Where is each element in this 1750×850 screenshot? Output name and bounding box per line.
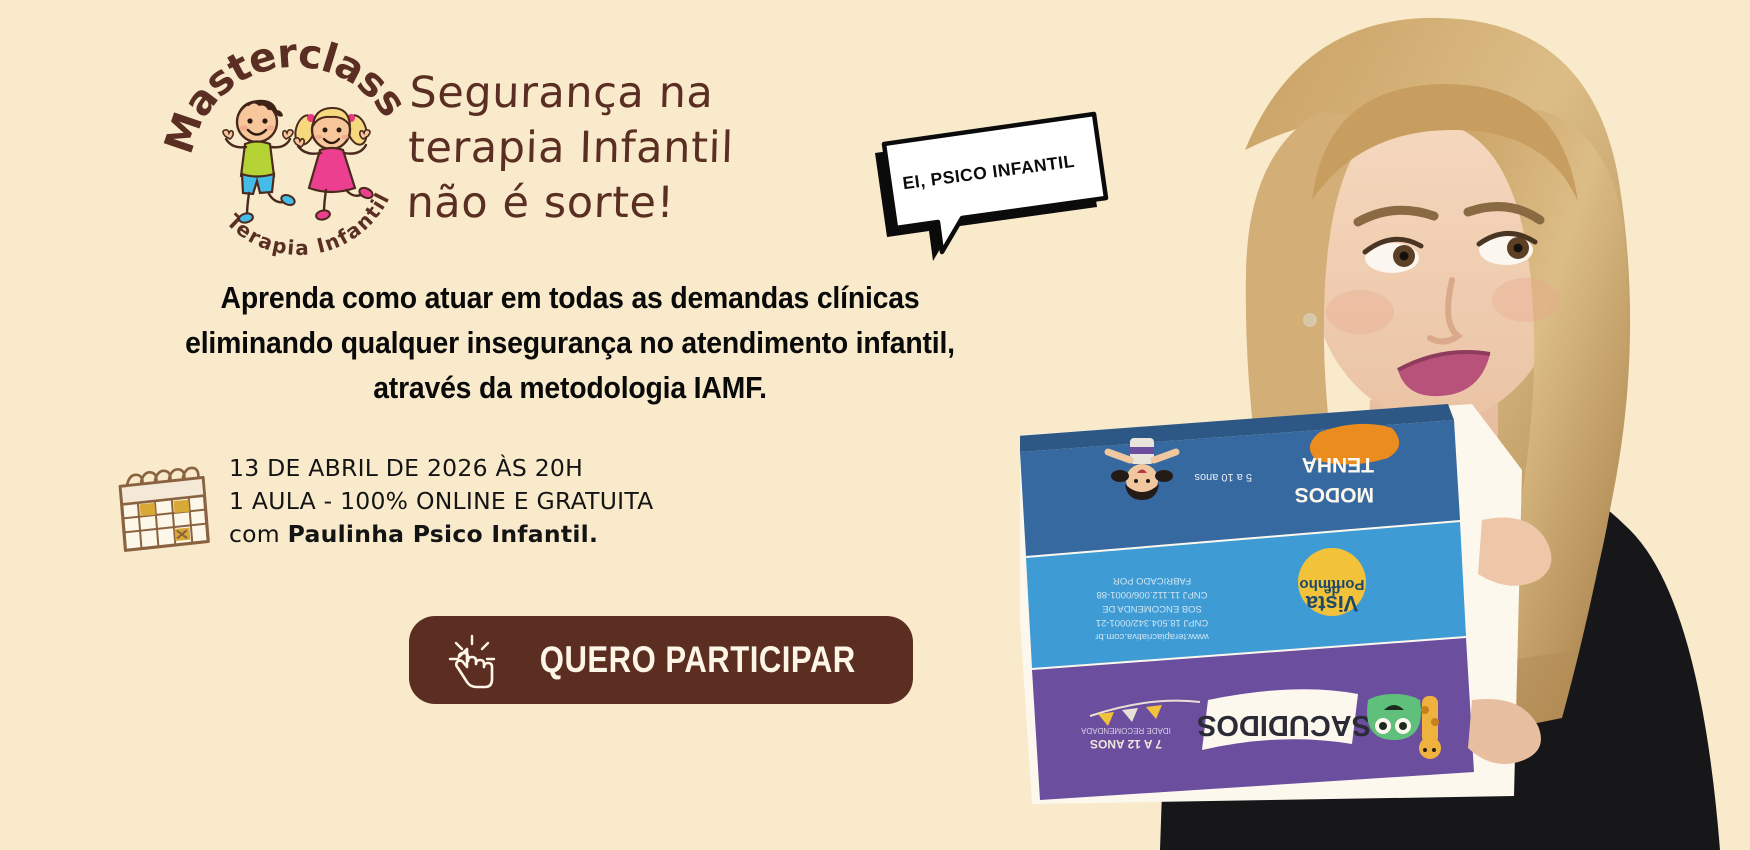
- masterclass-logo: Masterclass Terapia Infantil: [185, 48, 410, 248]
- svg-text:7 A 12 ANOS: 7 A 12 ANOS: [1090, 737, 1162, 751]
- logo-top-arc-textpath: Masterclass: [156, 31, 415, 160]
- subheadline-line-1: Aprenda como atuar em todas as demandas …: [40, 276, 1100, 321]
- calendar-icon: [112, 461, 214, 553]
- presenter-photo: TENHA MODOS 5 a 10 anos: [1020, 0, 1750, 850]
- promo-banner: Masterclass Terapia Infantil: [0, 0, 1750, 850]
- logo-boy-figure: [223, 100, 296, 224]
- cta-label: QUERO PARTICIPAR: [534, 639, 880, 681]
- svg-text:CNPJ 11.112.006/0001-88: CNPJ 11.112.006/0001-88: [1096, 589, 1207, 600]
- headline: Segurança na terapia Infantil não é sort…: [406, 66, 830, 231]
- quero-participar-button[interactable]: QUERO PARTICIPAR: [409, 616, 913, 704]
- subheadline-line-2: eliminando qualquer insegurança no atend…: [40, 321, 1100, 366]
- headline-line-2: terapia Infantil: [407, 121, 828, 176]
- svg-text:Vista: Vista: [1305, 591, 1358, 616]
- logo-top-arc-text: Masterclass: [156, 31, 415, 160]
- subheadline: Aprenda como atuar em todas as demandas …: [40, 276, 1100, 410]
- headline-line-1: Segurança na: [409, 66, 830, 121]
- svg-text:5 a 10 anos: 5 a 10 anos: [1194, 471, 1252, 483]
- svg-text:SOB ENCOMENDA DE: SOB ENCOMENDA DE: [1102, 603, 1202, 614]
- event-host: com Paulinha Psico Infantil.: [229, 518, 653, 551]
- event-details: 13 DE ABRIL DE 2026 ÀS 20H 1 AULA - 100%…: [112, 452, 672, 562]
- subheadline-line-3: através da metodologia IAMF.: [40, 366, 1100, 411]
- svg-text:SACUDIDOS: SACUDIDOS: [1197, 709, 1371, 741]
- event-detail-lines: 13 DE ABRIL DE 2026 ÀS 20H 1 AULA - 100%…: [229, 452, 653, 551]
- svg-text:TENHA: TENHA: [1302, 453, 1374, 476]
- event-host-name: Paulinha Psico Infantil.: [288, 520, 598, 548]
- event-host-prefix: com: [229, 520, 288, 548]
- click-hand-icon: [443, 631, 501, 689]
- svg-text:MODOS: MODOS: [1295, 483, 1374, 506]
- svg-text:www.terapiacriativa.com.br: www.terapiacriativa.com.br: [1095, 631, 1210, 642]
- svg-text:FABRICADO POR: FABRICADO POR: [1113, 575, 1191, 586]
- event-date: 13 DE ABRIL DE 2026 ÀS 20H: [229, 452, 653, 485]
- svg-text:CNPJ 18.504.342/0001-21: CNPJ 18.504.342/0001-21: [1096, 617, 1209, 628]
- logo-girl-figure: [292, 108, 374, 221]
- svg-text:IDADE RECOMENDADA: IDADE RECOMENDADA: [1080, 726, 1170, 735]
- event-format: 1 AULA - 100% ONLINE E GRATUITA: [229, 485, 653, 518]
- headline-line-3: não é sorte!: [406, 176, 827, 231]
